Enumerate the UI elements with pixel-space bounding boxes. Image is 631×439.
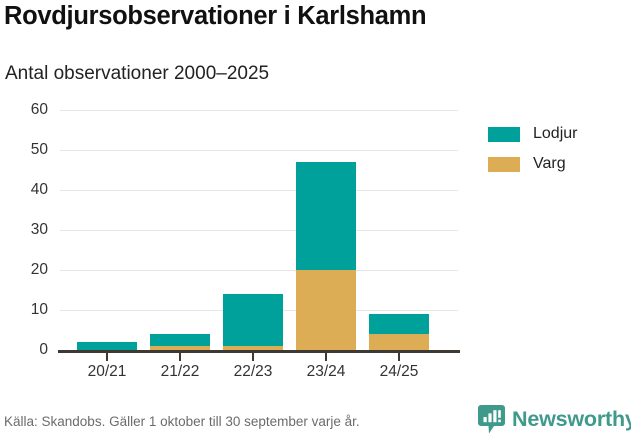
bar-segment-lodjur[interactable] — [296, 162, 356, 270]
bar-stack[interactable] — [369, 0, 429, 350]
plot-area: 010203040506020/2121/2222/2323/2424/25 — [0, 0, 631, 400]
bar-segment-lodjur[interactable] — [77, 342, 137, 350]
bar-segment-varg[interactable] — [150, 346, 210, 350]
x-axis-tick — [325, 353, 327, 361]
legend-label-varg: Varg — [533, 152, 566, 176]
bar-segment-varg[interactable] — [369, 334, 429, 350]
x-axis-tick-label: 21/22 — [142, 364, 218, 380]
bar-segment-lodjur[interactable] — [150, 334, 210, 346]
bar-chart-bubble-icon — [478, 405, 505, 434]
y-axis-tick-label: 40 — [0, 182, 48, 198]
y-axis-tick-label: 20 — [0, 262, 48, 278]
bar-stack[interactable] — [296, 0, 356, 350]
legend-swatch-varg — [488, 157, 520, 172]
y-axis-tick-label: 60 — [0, 102, 48, 118]
y-axis-tick-label: 10 — [0, 302, 48, 318]
x-axis-tick — [179, 353, 181, 361]
x-axis-tick-label: 24/25 — [361, 364, 437, 380]
source-note: Källa: Skandobs. Gäller 1 oktober till 3… — [4, 414, 360, 429]
x-axis-tick — [106, 353, 108, 361]
legend-swatch-lodjur — [488, 127, 520, 142]
y-axis-tick-label: 0 — [0, 342, 48, 358]
x-axis-tick — [252, 353, 254, 361]
x-axis-tick-label: 20/21 — [69, 364, 145, 380]
x-axis-tick-label: 22/23 — [215, 364, 291, 380]
y-axis-tick-label: 50 — [0, 142, 48, 158]
bar-stack[interactable] — [150, 0, 210, 350]
bar-stack[interactable] — [223, 0, 283, 350]
bar-segment-lodjur[interactable] — [223, 294, 283, 346]
x-axis-tick-label: 23/24 — [288, 364, 364, 380]
brand-wordmark: Newsworthy — [512, 404, 631, 434]
bar-segment-lodjur[interactable] — [369, 314, 429, 334]
bar-stack[interactable] — [77, 0, 137, 350]
bar-segment-varg[interactable] — [296, 270, 356, 350]
legend-label-lodjur: Lodjur — [533, 122, 577, 146]
x-axis-tick — [398, 353, 400, 361]
newsworthy-logo[interactable]: Newsworthy — [478, 404, 628, 436]
chart-page: Rovdjursobservationer i Karlshamn Antal … — [0, 0, 631, 439]
y-axis-tick-label: 30 — [0, 222, 48, 238]
bar-segment-varg[interactable] — [223, 346, 283, 350]
